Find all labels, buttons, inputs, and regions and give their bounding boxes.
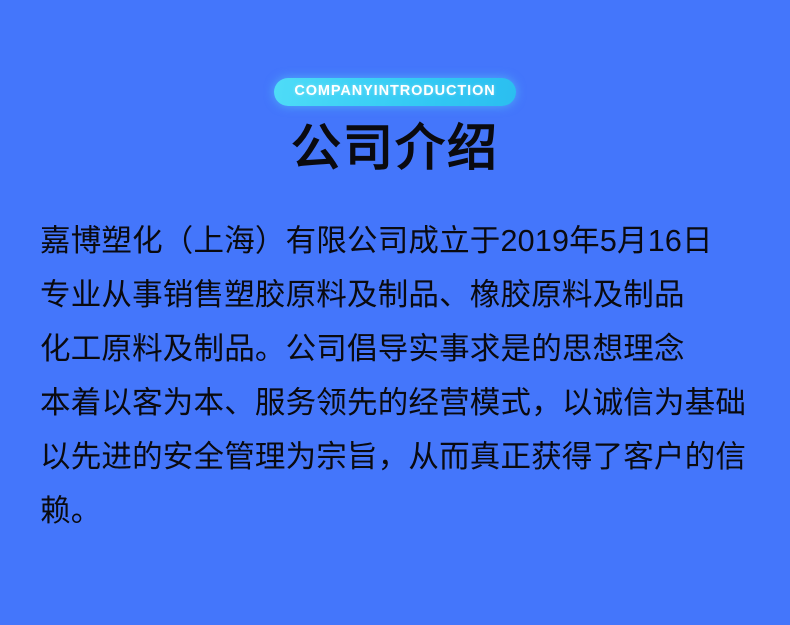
paragraph-line: 嘉博塑化（上海）有限公司成立于2019年5月16日 — [40, 214, 778, 268]
page-title: 公司介绍 — [0, 120, 790, 176]
paragraph-line: 本着以客为本、服务领先的经营模式，以诚信为基础 — [40, 376, 778, 430]
company-introduction-poster: COMPANYINTRODUCTION 公司介绍 嘉博塑化（上海）有限公司成立于… — [0, 0, 790, 625]
paragraph-line: 专业从事销售塑胶原料及制品、橡胶原料及制品 — [40, 268, 778, 322]
section-badge: COMPANYINTRODUCTION — [274, 78, 515, 106]
section-badge-label: COMPANYINTRODUCTION — [294, 83, 495, 100]
poster-header: COMPANYINTRODUCTION 公司介绍 — [0, 0, 790, 176]
paragraph-line: 以先进的安全管理为宗旨，从而真正获得了客户的信 — [40, 430, 778, 484]
paragraph-line: 化工原料及制品。公司倡导实事求是的思想理念 — [40, 322, 778, 376]
paragraph-line: 赖。 — [40, 484, 778, 538]
introduction-paragraph: 嘉博塑化（上海）有限公司成立于2019年5月16日 专业从事销售塑胶原料及制品、… — [40, 214, 778, 538]
